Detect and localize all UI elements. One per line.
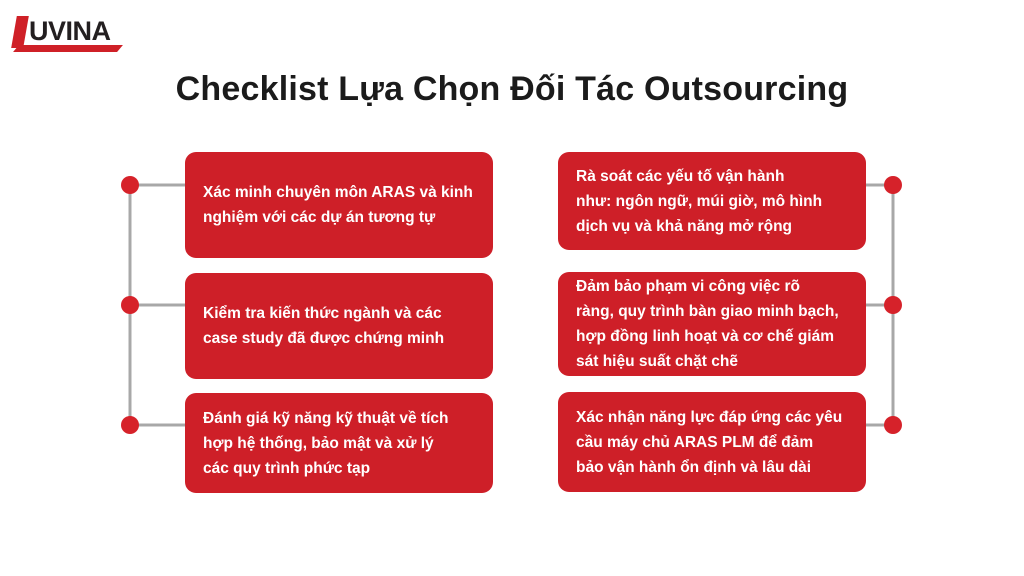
checklist-card-left-3[interactable]: Đánh giá kỹ năng kỹ thuật về tích hợp hệ…: [185, 393, 493, 493]
checklist-diagram: Xác minh chuyên môn ARAS và kinh nghiệm …: [0, 0, 1024, 576]
right-node-dot-2: [884, 296, 902, 314]
checklist-card-left-3-text: Đánh giá kỹ năng kỹ thuật về tích hợp hệ…: [185, 406, 460, 481]
checklist-card-left-2-text: Kiểm tra kiến thức ngành và các case stu…: [185, 301, 456, 351]
checklist-card-right-2-text: Đảm bảo phạm vi công việc rõ ràng, quy t…: [558, 274, 851, 374]
checklist-card-right-1[interactable]: Rà soát các yếu tố vận hành như: ngôn ng…: [558, 152, 866, 250]
left-node-dot-2: [121, 296, 139, 314]
checklist-card-right-3-text: Xác nhận năng lực đáp ứng các yêu cầu má…: [558, 405, 854, 480]
connector-lines: [0, 0, 1024, 576]
checklist-card-left-1[interactable]: Xác minh chuyên môn ARAS và kinh nghiệm …: [185, 152, 493, 258]
checklist-card-left-1-text: Xác minh chuyên môn ARAS và kinh nghiệm …: [185, 180, 485, 230]
checklist-card-left-2[interactable]: Kiểm tra kiến thức ngành và các case stu…: [185, 273, 493, 379]
right-node-dot-3: [884, 416, 902, 434]
left-node-dot-3: [121, 416, 139, 434]
left-node-dot-1: [121, 176, 139, 194]
checklist-card-right-1-text: Rà soát các yếu tố vận hành như: ngôn ng…: [558, 164, 834, 239]
right-node-dot-1: [884, 176, 902, 194]
checklist-card-right-3[interactable]: Xác nhận năng lực đáp ứng các yêu cầu má…: [558, 392, 866, 492]
checklist-card-right-2[interactable]: Đảm bảo phạm vi công việc rõ ràng, quy t…: [558, 272, 866, 376]
